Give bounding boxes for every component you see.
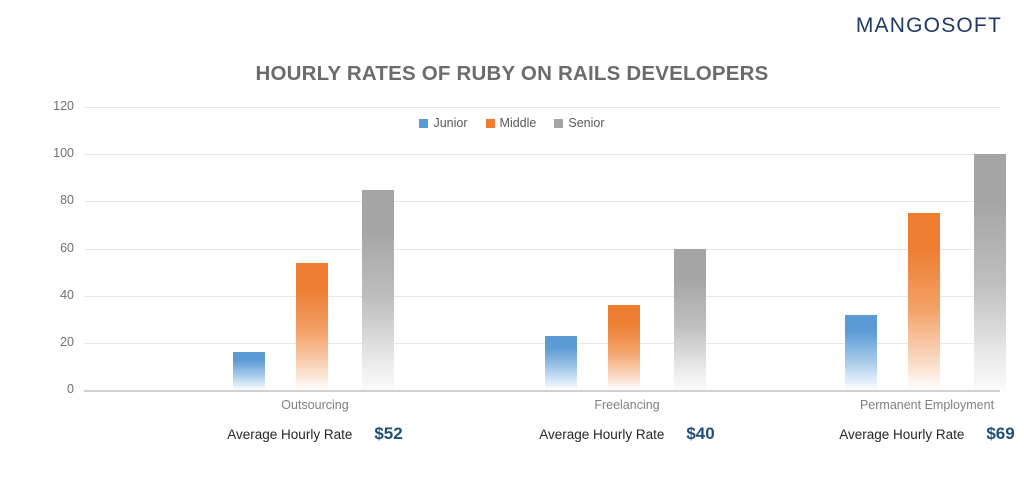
average-rate-label: Average Hourly Rate (839, 427, 964, 442)
bar-permanent-employment-senior[interactable] (974, 153, 1006, 390)
gridline-40 (84, 296, 1000, 297)
y-axis-tick-label: 100 (18, 146, 74, 160)
gridline-60 (84, 249, 1000, 250)
bar-freelancing-senior[interactable] (674, 248, 706, 391)
bar-permanent-employment-middle[interactable] (908, 212, 940, 390)
category-block-outsourcing: OutsourcingAverage Hourly Rate$52 (155, 398, 475, 444)
gridline-80 (84, 201, 1000, 202)
average-rate-value: $40 (686, 424, 714, 444)
chart-title: HOURLY RATES OF RUBY ON RAILS DEVELOPERS (0, 62, 1024, 86)
y-axis-tick-label: 20 (18, 335, 74, 349)
bar-freelancing-junior[interactable] (545, 335, 577, 390)
gridline-0 (84, 390, 1000, 392)
average-rate-row: Average Hourly Rate$69 (767, 424, 1024, 444)
bar-outsourcing-junior[interactable] (233, 351, 265, 390)
chart-canvas: MANGOSOFT HOURLY RATES OF RUBY ON RAILS … (0, 0, 1024, 481)
y-axis-tick-label: 0 (18, 382, 74, 396)
gridline-120 (84, 107, 1000, 108)
plot-area (84, 107, 1000, 390)
average-rate-row: Average Hourly Rate$52 (155, 424, 475, 444)
bar-permanent-employment-junior[interactable] (845, 314, 877, 390)
y-axis-tick-label: 60 (18, 241, 74, 255)
average-rate-label: Average Hourly Rate (227, 427, 352, 442)
y-axis-tick-label: 120 (18, 99, 74, 113)
gridline-100 (84, 154, 1000, 155)
category-block-freelancing: FreelancingAverage Hourly Rate$40 (467, 398, 787, 444)
category-name: Freelancing (467, 398, 787, 412)
average-rate-label: Average Hourly Rate (539, 427, 664, 442)
bar-outsourcing-middle[interactable] (296, 262, 328, 390)
category-block-permanent-employment: Permanent EmploymentAverage Hourly Rate$… (767, 398, 1024, 444)
category-name: Outsourcing (155, 398, 475, 412)
average-rate-value: $52 (374, 424, 402, 444)
y-axis-tick-label: 40 (18, 288, 74, 302)
bar-outsourcing-senior[interactable] (362, 189, 394, 390)
category-name: Permanent Employment (767, 398, 1024, 412)
average-rate-value: $69 (986, 424, 1014, 444)
brand-logo: MANGOSOFT (856, 14, 1002, 38)
y-axis-tick-label: 80 (18, 193, 74, 207)
average-rate-row: Average Hourly Rate$40 (467, 424, 787, 444)
bar-freelancing-middle[interactable] (608, 304, 640, 390)
